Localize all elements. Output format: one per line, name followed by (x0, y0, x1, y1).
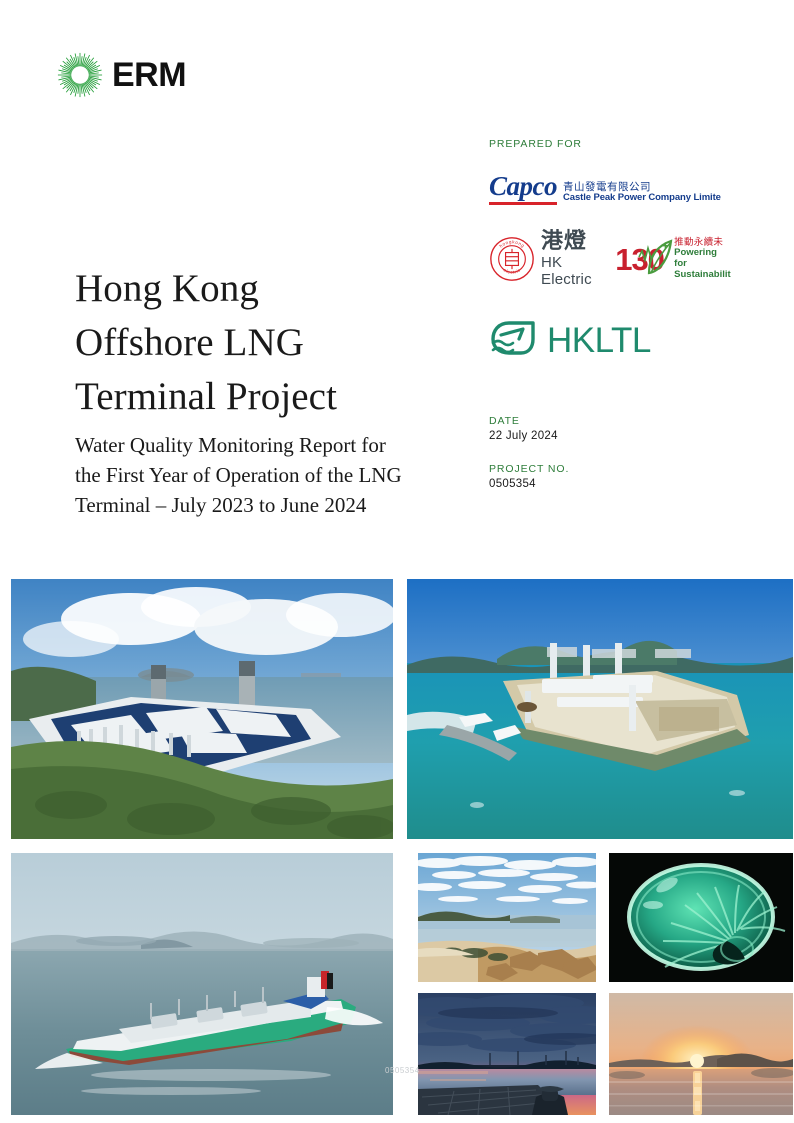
hkltl-logo: HKLTL (489, 317, 739, 363)
photo-lamma-island (407, 579, 793, 839)
erm-sunburst-icon (57, 52, 103, 98)
title-line-2: Offshore LNG (75, 316, 475, 370)
prepared-for-label: PREPARED FOR (489, 138, 739, 150)
project-number-label: PROJECT NO. (489, 463, 739, 475)
hk-electric-logo: hongkong electric 港燈 HK Electric (489, 230, 605, 288)
anniversary-tagline-line-2: for Sustainabilit (674, 259, 739, 280)
subtitle-line-2: the First Year of Operation of the LNG (75, 461, 475, 491)
capco-names: 青山發電有限公司 Castle Peak Power Company Limit… (563, 181, 721, 205)
title-block: Hong Kong Offshore LNG Terminal Project … (75, 262, 475, 521)
hkltl-wordmark: HKLTL (547, 323, 651, 358)
photo-shoreline (418, 853, 596, 982)
anniversary-plus: + (662, 238, 670, 253)
date-value: 22 July 2024 (489, 430, 739, 442)
date-block: DATE 22 July 2024 (489, 415, 739, 442)
photo-lng-carrier (11, 853, 393, 1115)
date-label: DATE (489, 415, 739, 427)
erm-logo: ERM (57, 52, 186, 98)
photo-fluorescent-coral (609, 853, 793, 982)
hongkong-electric-seal-icon: hongkong electric (489, 236, 535, 282)
capco-english-name: Castle Peak Power Company Limite (563, 193, 721, 204)
anniversary-130-logo: 130 + 推動永續未 Powering for Sustainabilit (615, 237, 739, 281)
page-subtitle: Water Quality Monitoring Report for the … (75, 431, 475, 520)
capco-logo: Capco 青山發電有限公司 Castle Peak Power Company… (489, 171, 739, 205)
capco-wordmark: Capco (489, 173, 557, 200)
photo-powerstation (11, 579, 393, 839)
photo-sunset (609, 993, 793, 1115)
hk-electric-chinese-name: 港燈 (541, 230, 605, 253)
watermark: 0505354 (385, 1066, 420, 1075)
subtitle-line-1: Water Quality Monitoring Report for (75, 431, 475, 461)
title-line-3: Terminal Project (75, 370, 475, 424)
photo-harbour-dusk (418, 993, 596, 1115)
anniversary-tagline: 推動永續未 Powering for Sustainabilit (674, 238, 739, 281)
meta-column: PREPARED FOR Capco 青山發電有限公司 Castle Peak … (489, 138, 739, 490)
anniversary-130-leaf-icon: 130 + (615, 237, 671, 281)
project-number-value: 0505354 (489, 478, 739, 490)
capco-wordmark-wrap: Capco (489, 173, 557, 205)
page-title: Hong Kong Offshore LNG Terminal Project (75, 262, 475, 423)
subtitle-line-3: Terminal – July 2023 to June 2024 (75, 491, 475, 521)
hk-electric-row: hongkong electric 港燈 HK Electric 130 (489, 231, 739, 287)
hk-electric-english-name: HK Electric (541, 255, 605, 288)
erm-wordmark: ERM (112, 58, 186, 92)
capco-red-rule-icon (489, 202, 557, 205)
title-line-1: Hong Kong (75, 262, 475, 316)
hk-electric-names: 港燈 HK Electric (541, 230, 605, 288)
hkltl-wave-arrow-icon (489, 319, 537, 361)
project-number-block: PROJECT NO. 0505354 (489, 463, 739, 490)
